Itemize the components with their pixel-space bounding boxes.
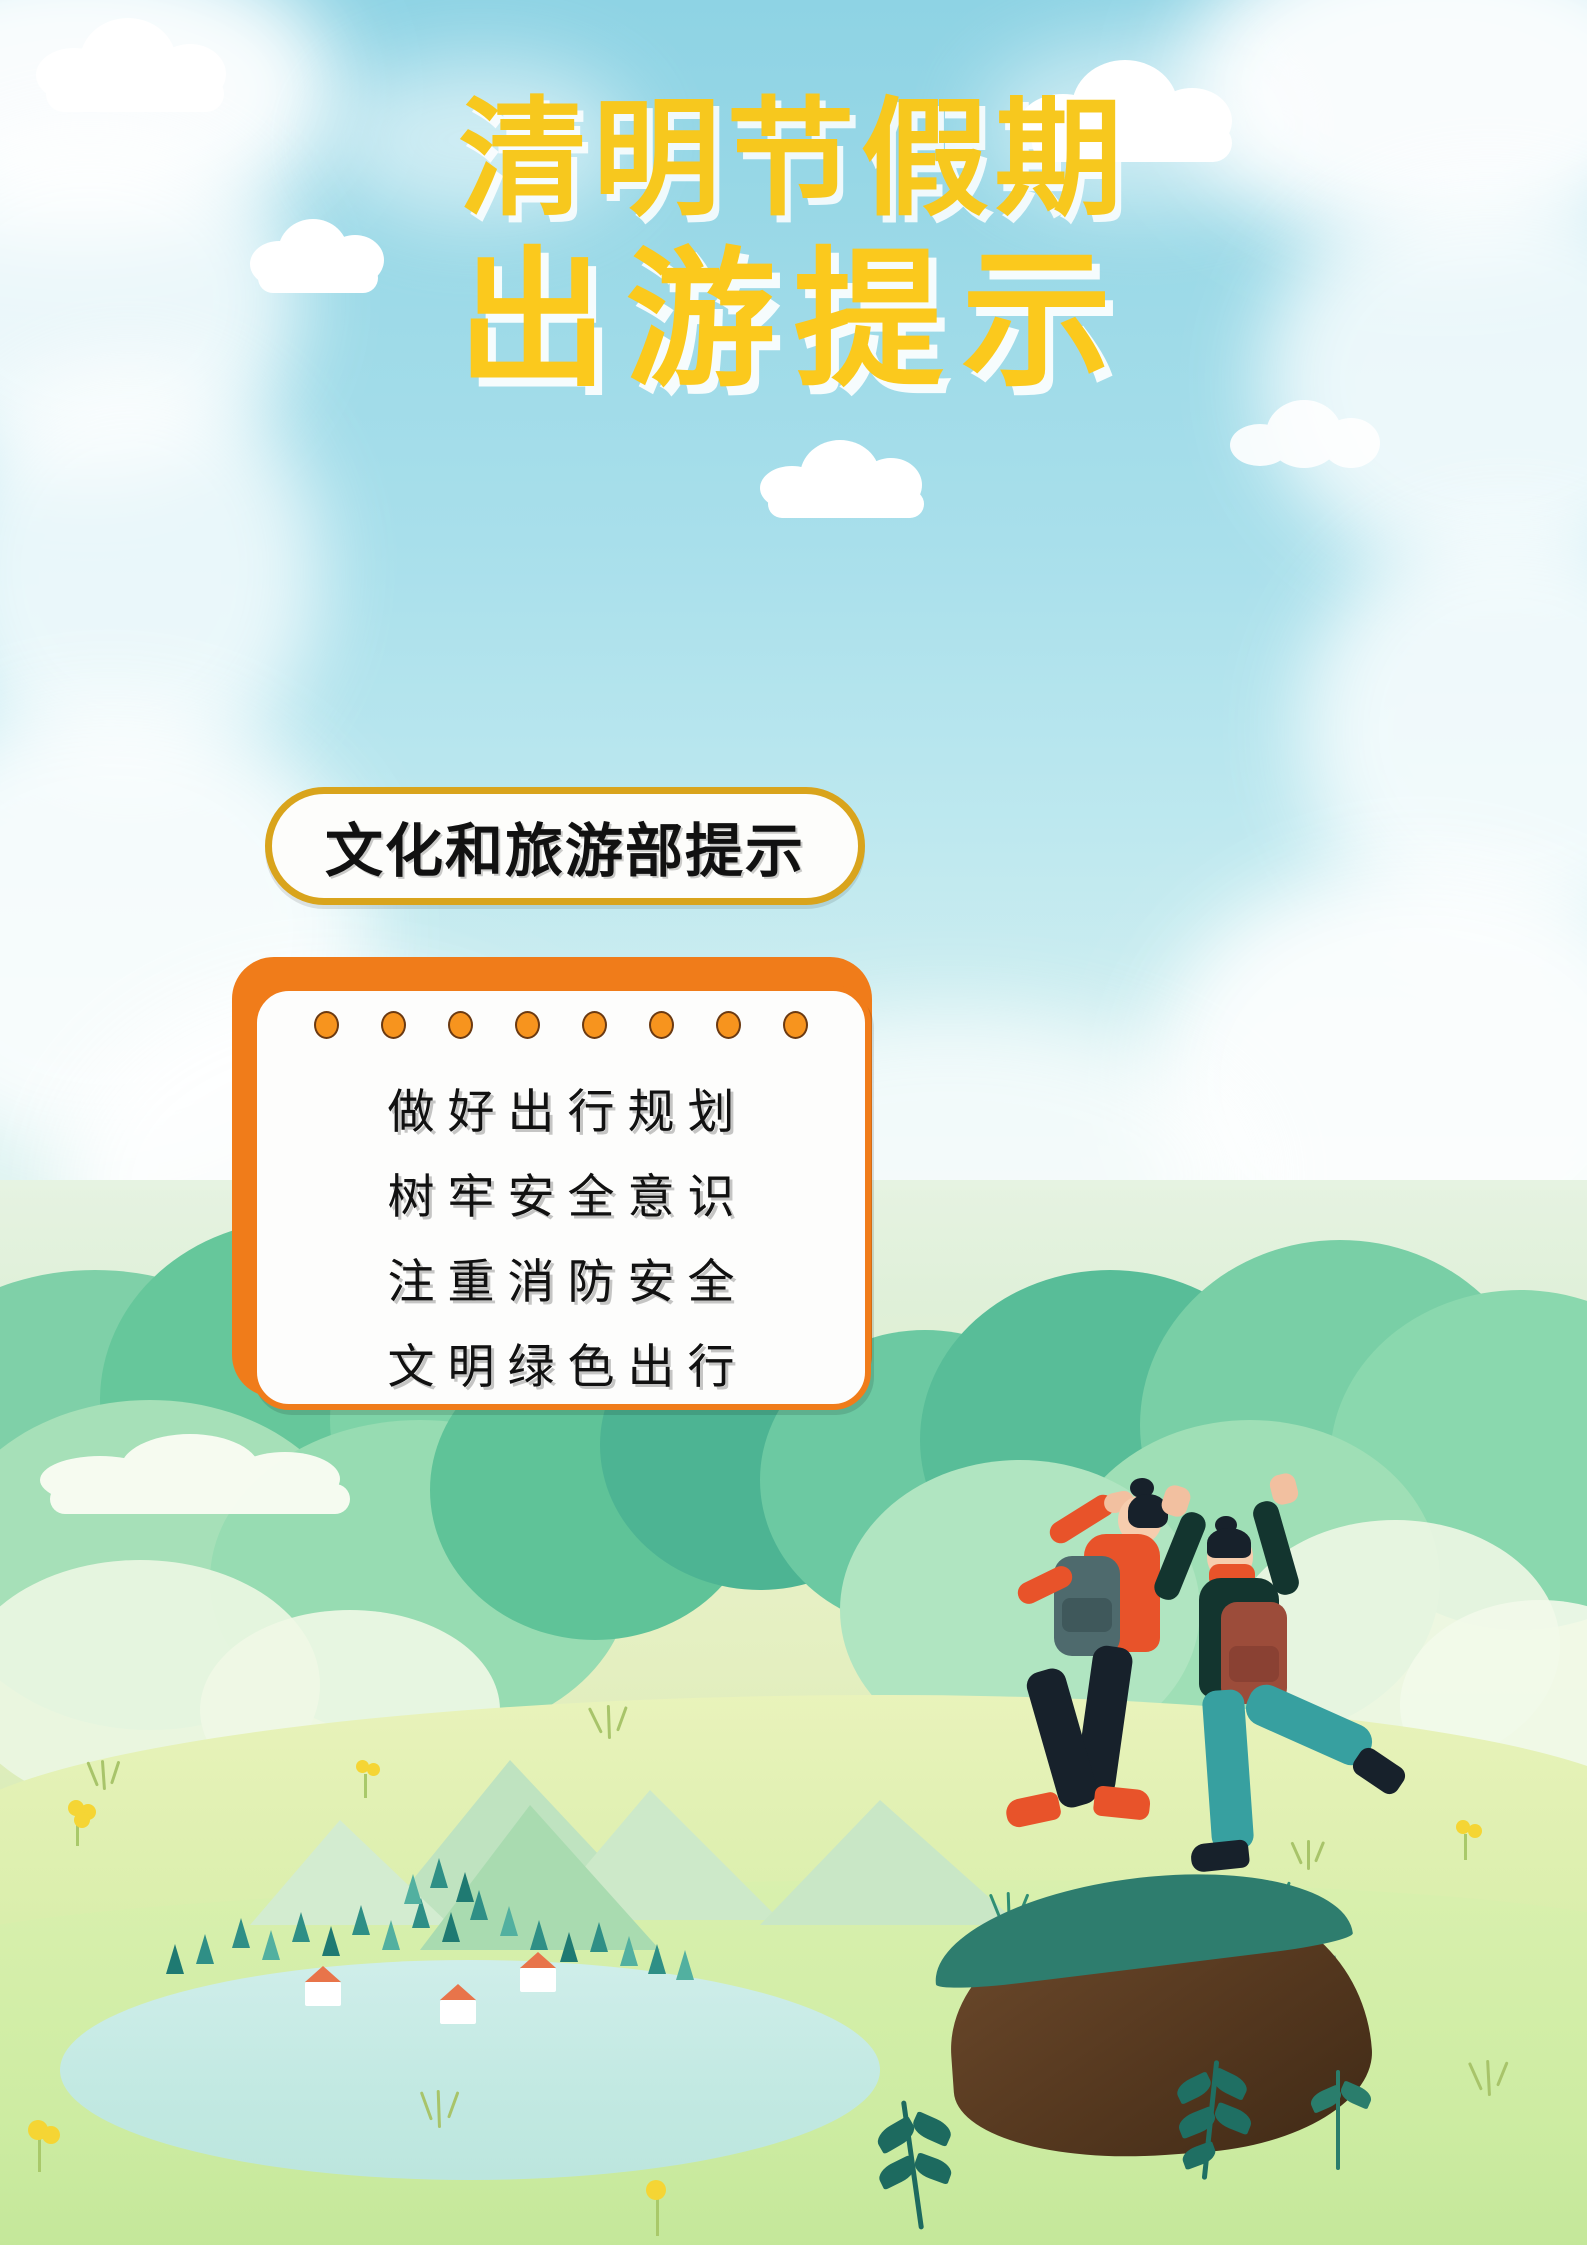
far-mountain [760, 1800, 1020, 1925]
hiker-hair [1207, 1528, 1251, 1558]
hiker-boot [1190, 1839, 1251, 1873]
tip-line: 做好出行规划 [375, 1073, 748, 1142]
tip-line: 注重消防安全 [375, 1243, 748, 1312]
hiker-boot [1093, 1785, 1152, 1821]
card-dot [448, 1011, 473, 1039]
backpack-pocket [1062, 1598, 1112, 1632]
house-icon [520, 1952, 556, 1992]
card-dot [649, 1011, 674, 1039]
backpack-pocket [1229, 1646, 1279, 1682]
card-dot [716, 1011, 741, 1039]
tip-line: 树牢安全意识 [375, 1158, 748, 1227]
card-dot [515, 1011, 540, 1039]
title-line-2: 出游提示 [0, 246, 1587, 396]
card-dot [783, 1011, 808, 1039]
card-dot-row [257, 1011, 865, 1039]
hiker-two [1155, 1460, 1405, 1960]
tips-list: 做好出行规划树牢安全意识注重消防安全文明绿色出行 [257, 1073, 865, 1397]
ministry-badge: 文化和旅游部提示 [265, 787, 865, 905]
tip-line: 文明绿色出行 [375, 1328, 748, 1397]
title-line-1: 清明节假期 [0, 96, 1587, 224]
card-dot [314, 1011, 339, 1039]
poster-title: 清明节假期 出游提示 [0, 96, 1587, 396]
tips-card: 做好出行规划树牢安全意识注重消防安全文明绿色出行 [251, 985, 871, 1410]
card-dot [582, 1011, 607, 1039]
ministry-badge-label: 文化和旅游部提示 [325, 804, 805, 888]
house-icon [440, 1984, 476, 2024]
hiker-boot [1004, 1791, 1063, 1830]
house-icon [305, 1966, 341, 2006]
card-dot [381, 1011, 406, 1039]
poster-canvas: 清明节假期 出游提示 文化和旅游部提示 做好出行规划树牢安全意识注重消防安全文明… [0, 0, 1587, 2245]
